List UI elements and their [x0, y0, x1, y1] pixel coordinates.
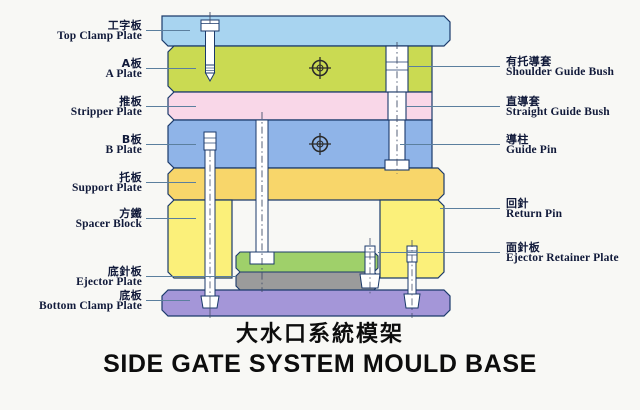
guide-pin-assembly — [385, 42, 409, 174]
label-ejector-plate-en: Ejector Plate — [6, 277, 142, 289]
label-stripper-plate-en: Stripper Plate — [6, 107, 142, 119]
leader-stripper-plate — [146, 106, 196, 107]
leader-return-pin — [440, 208, 500, 209]
label-support-plate-en: Support Plate — [6, 183, 142, 195]
label-ejector-retainer-plate: 面針板 Ejector Retainer Plate — [506, 242, 640, 265]
label-guide-pin: 導柱 Guide Pin — [506, 134, 638, 157]
label-straight-guide-bush-en: Straight Guide Bush — [506, 107, 638, 119]
label-straight-guide-bush: 直導套 Straight Guide Bush — [506, 96, 638, 119]
leader-ejector-plate — [146, 276, 236, 277]
leader-top-clamp-plate — [146, 30, 190, 31]
label-support-plate: 托板 Support Plate — [6, 172, 142, 195]
label-ejector-retainer-plate-en: Ejector Retainer Plate — [506, 253, 640, 265]
leader-bottom-clamp-plate — [146, 300, 190, 301]
label-return-pin-en: Return Pin — [506, 209, 638, 221]
label-bottom-clamp-plate-en: Bottom Clamp Plate — [6, 301, 142, 313]
label-top-clamp-plate-en: Top Clamp Plate — [6, 31, 142, 43]
spacer-block-left — [168, 200, 232, 278]
leader-support-plate — [146, 182, 196, 183]
leader-shoulder-guide-bush — [408, 66, 500, 67]
label-stripper-plate: 推板 Stripper Plate — [6, 96, 142, 119]
leader-a-plate — [146, 68, 196, 69]
label-bottom-clamp-plate: 底板 Bottom Clamp Plate — [6, 290, 142, 313]
plate-ejector — [236, 272, 378, 290]
label-spacer-block-en: Spacer Block — [6, 219, 142, 231]
diagram-title-zh: 大水口系統模架 — [0, 316, 640, 348]
leader-straight-guide-bush — [406, 106, 500, 107]
label-guide-pin-en: Guide Pin — [506, 145, 638, 157]
label-a-plate: A板 A Plate — [6, 58, 142, 81]
label-spacer-block: 方鐵 Spacer Block — [6, 208, 142, 231]
leader-b-plate — [146, 144, 196, 145]
leader-spacer-block — [146, 218, 196, 219]
leader-ejector-retainer-plate — [378, 252, 500, 253]
label-a-plate-en: A Plate — [6, 69, 142, 81]
label-shoulder-guide-bush: 有托導套 Shoulder Guide Bush — [506, 56, 638, 79]
label-return-pin: 回針 Return Pin — [506, 198, 638, 221]
diagram-title: 大水口系統模架 SIDE GATE SYSTEM MOULD BASE — [0, 316, 640, 379]
diagram-title-en: SIDE GATE SYSTEM MOULD BASE — [0, 350, 640, 379]
label-b-plate-en: B Plate — [6, 145, 142, 157]
label-top-clamp-plate: 工字板 Top Clamp Plate — [6, 20, 142, 43]
label-ejector-plate: 底針板 Ejector Plate — [6, 266, 142, 289]
label-shoulder-guide-bush-en: Shoulder Guide Bush — [506, 67, 638, 79]
diagram-page: 工字板 Top Clamp Plate A板 A Plate 推板 Stripp… — [0, 0, 640, 410]
label-b-plate: B板 B Plate — [6, 134, 142, 157]
leader-guide-pin — [400, 144, 500, 145]
